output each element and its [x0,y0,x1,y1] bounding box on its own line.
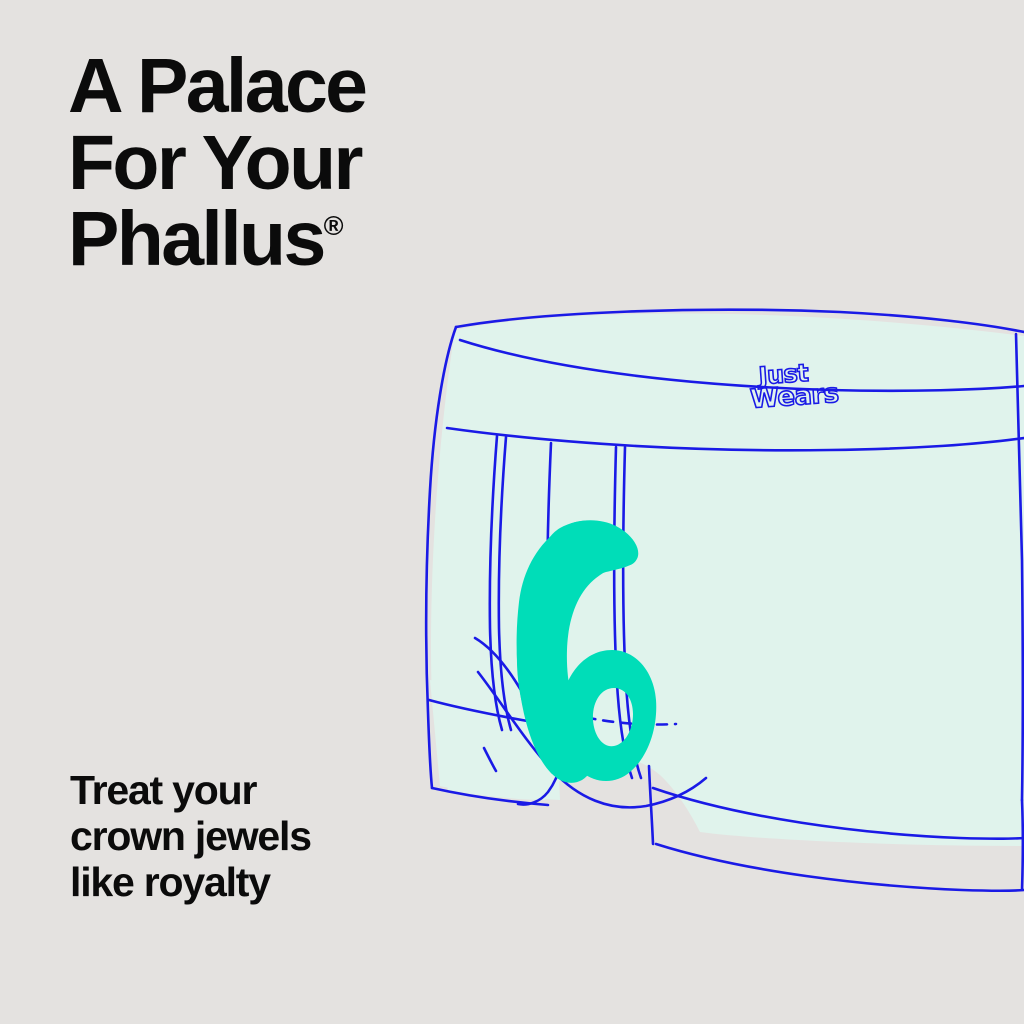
left-leg-hem-outer [429,700,562,727]
left-side-outline [426,327,456,788]
pouch-seam-center [547,443,562,760]
gusset-dashed-seam [568,713,676,725]
pouch-seam-left-a [490,436,502,730]
waistband-inner-edge [460,340,1024,391]
right-leg-outer-lower [1022,800,1023,890]
right-leg-hem-inner [656,844,1024,891]
page-subtitle: Treat yourcrown jewelslike royalty [70,768,490,906]
support-highlight-crescent [517,521,637,783]
gusset-dashed-seam-tail [566,708,568,719]
headline-line-3: Phallus® [68,201,588,278]
headline-line-2: For Your [68,125,588,202]
support-highlight-upper-bulge [517,520,638,736]
headline-line-3-text: Phallus [68,196,324,282]
fabric-fill [431,314,1024,846]
registered-trademark-symbol: ® [324,211,344,241]
subtitle-line-2: crown jewels [70,814,490,860]
gusset-curve [478,672,706,807]
right-leg-rise [649,766,653,844]
waistband-top-edge [456,310,1024,332]
pouch-seam-right-a [614,447,632,778]
support-highlight-ring [561,650,656,781]
brand-logo-line-1: Just [756,359,809,391]
pouch-seam-left-b [499,437,511,730]
right-side-outline [1016,334,1023,800]
left-leg-opening [518,727,563,805]
brand-logo: Just Wears [748,357,840,415]
ad-canvas: Just Wears A PalaceFor YourPhallus® Trea… [0,0,1024,1024]
hip-seam-curve [475,638,550,752]
support-highlight-group [517,520,657,783]
subtitle-line-1: Treat your [70,768,490,814]
right-leg-hem-outer [653,788,1024,839]
brand-logo-line-2: Wears [749,379,839,415]
headline-line-1: A Palace [68,48,588,125]
subtitle-line-3: like royalty [70,860,490,906]
support-highlight-connector [536,690,582,774]
pouch-seam-right-b [623,447,641,778]
page-headline: A PalaceFor YourPhallus® [68,48,588,278]
waistband-bottom-seam [447,428,1024,450]
